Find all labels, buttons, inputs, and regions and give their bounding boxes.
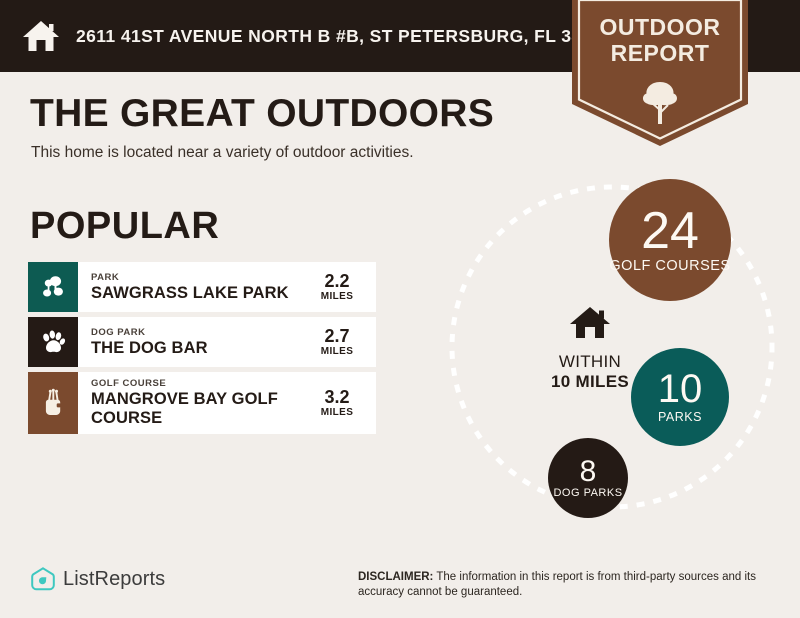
distance-unit: MILES bbox=[321, 291, 354, 303]
stat-bubble-dog-parks: 8 DOG PARKS bbox=[548, 438, 628, 518]
stat-value: 10 bbox=[658, 369, 703, 409]
stat-value: 24 bbox=[641, 205, 699, 257]
list-item-body: DOG PARK THE DOG BAR bbox=[78, 317, 308, 367]
disclaimer-label: DISCLAIMER: bbox=[358, 571, 433, 583]
property-address: 2611 41ST AVENUE NORTH B #B, ST PETERSBU… bbox=[76, 26, 612, 47]
badge-title-line1: OUTDOOR bbox=[572, 14, 748, 40]
stat-label: DOG PARKS bbox=[553, 488, 622, 500]
list-item[interactable]: PARK SAWGRASS LAKE PARK 2.2 MILES bbox=[28, 262, 376, 312]
distance-value: 3.2 bbox=[324, 387, 349, 407]
badge-title: OUTDOOR REPORT bbox=[572, 14, 748, 66]
page-subtitle: This home is located near a variety of o… bbox=[31, 144, 414, 162]
list-item-category: GOLF COURSE bbox=[91, 378, 304, 390]
outdoor-report-badge: OUTDOOR REPORT bbox=[572, 0, 748, 146]
list-item-body: GOLF COURSE MANGROVE BAY GOLF COURSE bbox=[78, 372, 308, 434]
list-item-distance: 3.2 MILES bbox=[308, 372, 376, 434]
home-icon bbox=[22, 19, 60, 53]
within-radius-block: WITHIN 10 MILES bbox=[525, 305, 655, 392]
stat-label: GOLF COURSES bbox=[609, 259, 730, 274]
park-tree-icon bbox=[28, 262, 78, 312]
home-icon bbox=[525, 305, 655, 346]
popular-list: PARK SAWGRASS LAKE PARK 2.2 MILES DOG PA… bbox=[28, 262, 376, 439]
list-item-category: DOG PARK bbox=[91, 327, 304, 339]
listreports-house-logo-icon bbox=[30, 566, 63, 592]
listreports-logo[interactable]: ListReports bbox=[30, 566, 165, 592]
stat-label: PARKS bbox=[658, 411, 702, 424]
badge-title-line2: REPORT bbox=[572, 40, 748, 66]
list-item-name: THE DOG BAR bbox=[91, 339, 304, 358]
distance-unit: MILES bbox=[321, 346, 354, 358]
within-label-line2: 10 MILES bbox=[525, 372, 655, 392]
distance-value: 2.2 bbox=[324, 271, 349, 291]
popular-heading: POPULAR bbox=[30, 205, 219, 248]
list-item-body: PARK SAWGRASS LAKE PARK bbox=[78, 262, 308, 312]
list-item[interactable]: GOLF COURSE MANGROVE BAY GOLF COURSE 3.2… bbox=[28, 372, 376, 434]
disclaimer: DISCLAIMER: The information in this repo… bbox=[358, 570, 778, 600]
within-label-line1: WITHIN bbox=[525, 352, 655, 372]
list-item-category: PARK bbox=[91, 272, 304, 284]
summary-infographic: 24 GOLF COURSES 10 PARKS 8 DOG PARKS WIT… bbox=[415, 175, 800, 545]
stat-value: 8 bbox=[580, 457, 597, 487]
page-title: THE GREAT OUTDOORS bbox=[30, 92, 494, 136]
paw-print-icon bbox=[28, 317, 78, 367]
golf-bag-icon bbox=[28, 372, 78, 434]
list-item-name: MANGROVE BAY GOLF COURSE bbox=[91, 390, 304, 428]
distance-unit: MILES bbox=[321, 407, 354, 419]
listreports-logo-text: ListReports bbox=[63, 568, 165, 591]
stat-bubble-golf-courses: 24 GOLF COURSES bbox=[609, 179, 731, 301]
list-item-name: SAWGRASS LAKE PARK bbox=[91, 284, 304, 303]
list-item[interactable]: DOG PARK THE DOG BAR 2.7 MILES bbox=[28, 317, 376, 367]
list-item-distance: 2.7 MILES bbox=[308, 317, 376, 367]
distance-value: 2.7 bbox=[324, 326, 349, 346]
list-item-distance: 2.2 MILES bbox=[308, 262, 376, 312]
